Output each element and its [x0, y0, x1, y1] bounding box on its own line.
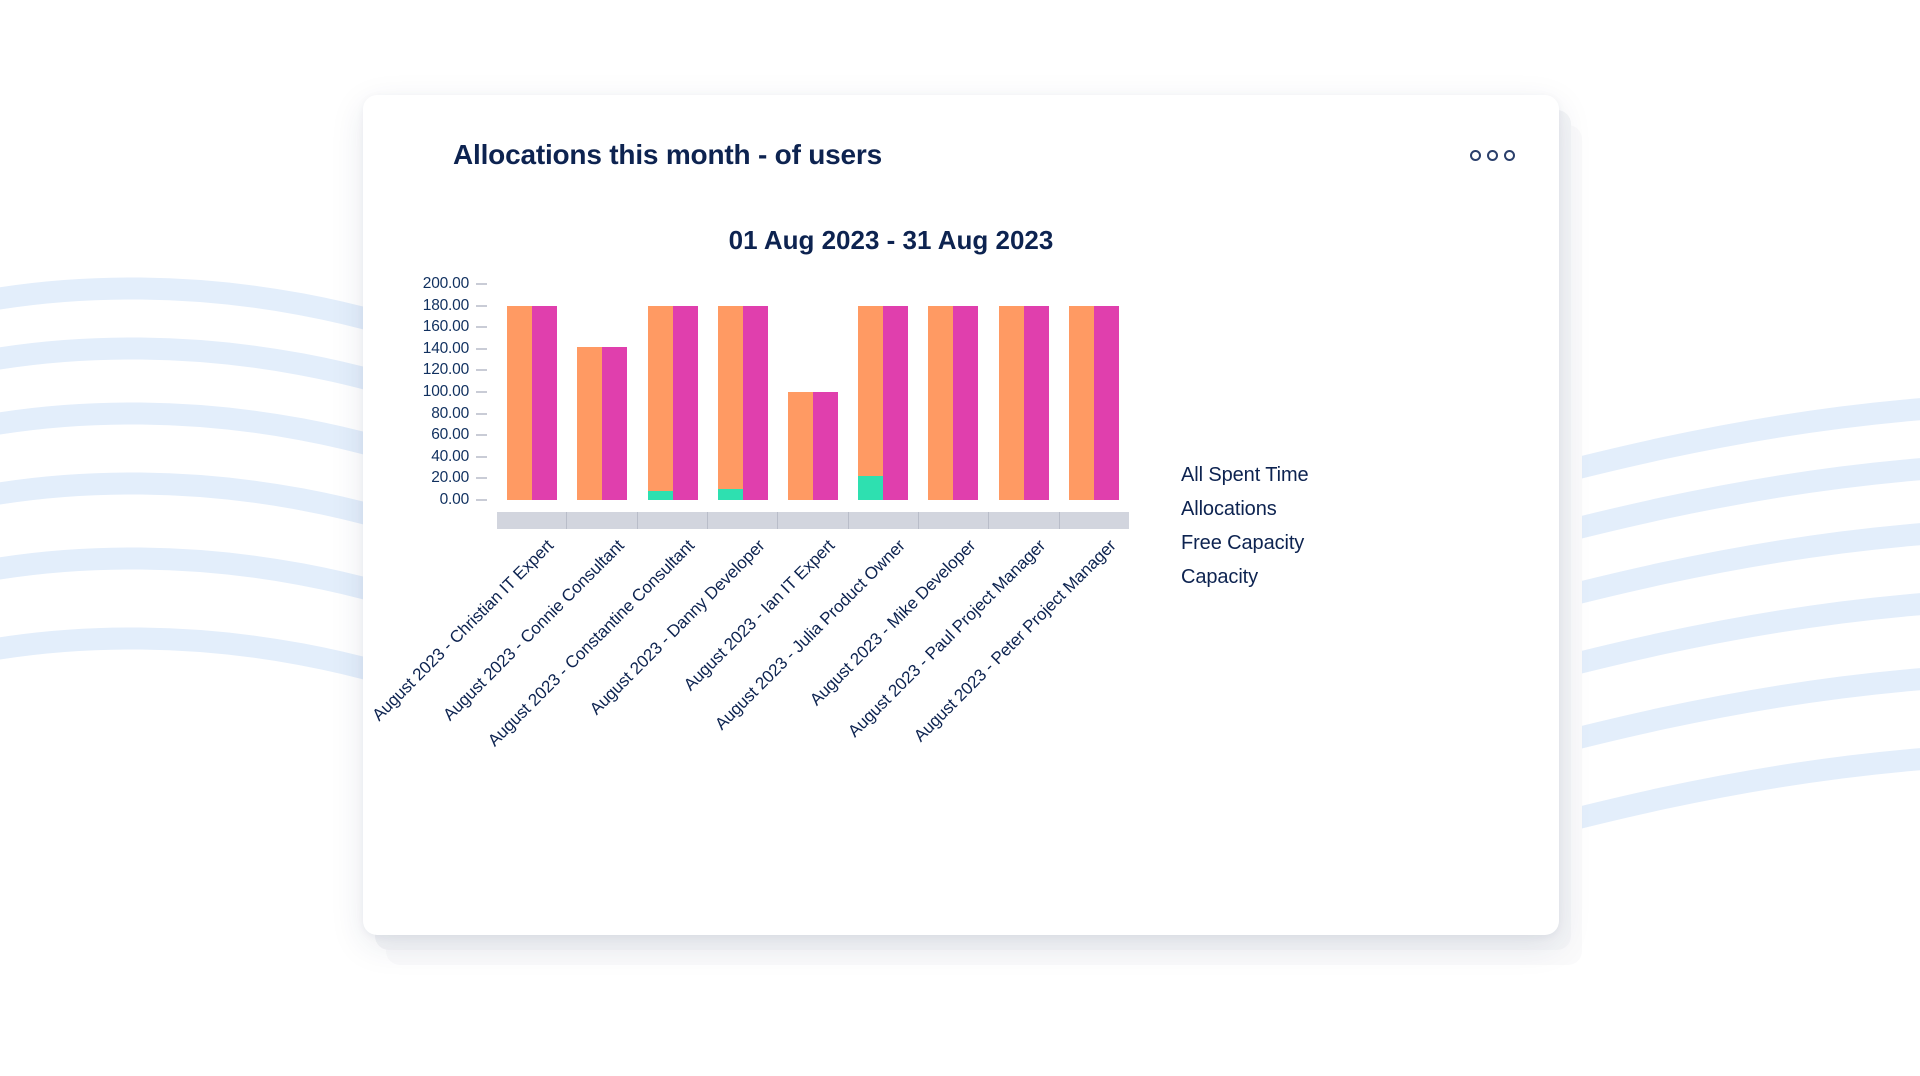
- y-axis-tick-label: 200.00: [423, 275, 469, 293]
- category-band-cell: [989, 512, 1059, 529]
- bar-capacity[interactable]: [953, 306, 978, 500]
- y-axis: 200.00180.00160.00140.00120.00100.0080.0…: [391, 284, 487, 500]
- y-axis-tick: 200.00: [423, 275, 487, 293]
- bar-segment-free-capacity: [648, 306, 673, 492]
- category-band-cell: [919, 512, 989, 529]
- y-axis-tick-label: 60.00: [431, 426, 469, 444]
- y-axis-tick-label: 120.00: [423, 361, 469, 379]
- bar-group[interactable]: [567, 284, 637, 500]
- category-band-cell: [567, 512, 637, 529]
- bar-free-capacity[interactable]: [999, 306, 1024, 500]
- bar-groups: [497, 284, 1129, 500]
- y-axis-tick: 40.00: [431, 448, 487, 466]
- bar-capacity[interactable]: [673, 306, 698, 500]
- y-axis-tick-label: 160.00: [423, 318, 469, 336]
- bar-free-capacity[interactable]: [648, 306, 673, 500]
- bar-segment-capacity: [532, 306, 557, 500]
- bar-free-capacity[interactable]: [788, 392, 813, 500]
- bar-segment-free-capacity: [1069, 306, 1094, 500]
- y-axis-tick: 140.00: [423, 340, 487, 358]
- y-axis-tick-mark: [476, 499, 487, 501]
- bar-capacity[interactable]: [602, 347, 627, 500]
- bar-free-capacity[interactable]: [718, 306, 743, 500]
- bar-segment-free-capacity: [577, 347, 602, 500]
- y-axis-tick-label: 140.00: [423, 340, 469, 358]
- bar-segment-free-capacity: [858, 306, 883, 477]
- chart-card: Allocations this month - of users 01 Aug…: [363, 95, 1559, 935]
- bar-segment-spent-time: [648, 491, 673, 500]
- y-axis-tick-label: 40.00: [431, 448, 469, 466]
- bar-free-capacity[interactable]: [928, 306, 953, 500]
- y-axis-tick-mark: [476, 369, 487, 371]
- bar-segment-free-capacity: [928, 306, 953, 500]
- legend-item-allocations[interactable]: Allocations: [1181, 498, 1309, 521]
- bar-capacity[interactable]: [532, 306, 557, 500]
- y-axis-tick-mark: [476, 413, 487, 415]
- bar-group[interactable]: [497, 284, 567, 500]
- page-root: Allocations this month - of users 01 Aug…: [0, 0, 1920, 1076]
- bar-segment-free-capacity: [788, 392, 813, 500]
- chart-subtitle: 01 Aug 2023 - 31 Aug 2023: [223, 215, 1559, 256]
- legend-item-capacity[interactable]: Capacity: [1181, 566, 1309, 589]
- y-axis-tick: 60.00: [431, 426, 487, 444]
- y-axis-tick-mark: [476, 477, 487, 479]
- y-axis-tick-mark: [476, 305, 487, 307]
- bar-free-capacity[interactable]: [858, 306, 883, 500]
- y-axis-tick-label: 0.00: [440, 491, 469, 509]
- bar-segment-free-capacity: [718, 306, 743, 490]
- bar-segment-capacity: [743, 306, 768, 500]
- y-axis-tick: 120.00: [423, 361, 487, 379]
- y-axis-tick-label: 20.00: [431, 469, 469, 487]
- page-title: Allocations this month - of users: [453, 139, 882, 171]
- bar-segment-capacity: [883, 306, 908, 500]
- y-axis-tick: 100.00: [423, 383, 487, 401]
- category-band: [497, 512, 1129, 529]
- y-axis-tick: 180.00: [423, 297, 487, 315]
- y-axis-tick-label: 100.00: [423, 383, 469, 401]
- bar-segment-capacity: [813, 392, 838, 500]
- y-axis-tick: 0.00: [440, 491, 487, 509]
- bar-capacity[interactable]: [1094, 306, 1119, 500]
- bar-capacity[interactable]: [1024, 306, 1049, 500]
- kebab-menu-icon[interactable]: [1466, 144, 1519, 167]
- plot-wrapper: 200.00180.00160.00140.00120.00100.0080.0…: [391, 284, 1531, 884]
- bar-segment-spent-time: [858, 476, 883, 500]
- bar-free-capacity[interactable]: [1069, 306, 1094, 500]
- bar-group[interactable]: [637, 284, 707, 500]
- y-axis-tick-mark: [476, 391, 487, 393]
- y-axis-tick-mark: [476, 434, 487, 436]
- kebab-dot-1: [1470, 150, 1481, 161]
- y-axis-tick-label: 180.00: [423, 297, 469, 315]
- y-axis-tick: 160.00: [423, 318, 487, 336]
- bar-free-capacity[interactable]: [577, 347, 602, 500]
- bar-capacity[interactable]: [743, 306, 768, 500]
- bar-segment-spent-time: [718, 489, 743, 500]
- x-axis-labels: August 2023 - Christian IT ExpertAugust …: [497, 536, 1129, 836]
- bar-group[interactable]: [918, 284, 988, 500]
- y-axis-tick-mark: [476, 456, 487, 458]
- kebab-dot-3: [1504, 150, 1515, 161]
- bar-segment-free-capacity: [507, 306, 532, 500]
- bar-segment-free-capacity: [999, 306, 1024, 500]
- category-band-cell: [638, 512, 708, 529]
- category-band-cell: [778, 512, 848, 529]
- y-axis-tick-mark: [476, 283, 487, 285]
- y-axis-tick-mark: [476, 326, 487, 328]
- bar-segment-capacity: [1094, 306, 1119, 500]
- bar-group[interactable]: [848, 284, 918, 500]
- bar-segment-capacity: [953, 306, 978, 500]
- y-axis-tick-mark: [476, 348, 487, 350]
- legend-item-all-spent-time[interactable]: All Spent Time: [1181, 464, 1309, 487]
- kebab-dot-2: [1487, 150, 1498, 161]
- legend-item-free-capacity[interactable]: Free Capacity: [1181, 532, 1309, 555]
- bar-segment-capacity: [673, 306, 698, 500]
- bar-group[interactable]: [989, 284, 1059, 500]
- bar-segment-capacity: [1024, 306, 1049, 500]
- card-header: Allocations this month - of users: [363, 95, 1559, 215]
- bar-free-capacity[interactable]: [507, 306, 532, 500]
- category-band-cell: [849, 512, 919, 529]
- bar-capacity[interactable]: [813, 392, 838, 500]
- category-band-cell: [497, 512, 567, 529]
- bar-capacity[interactable]: [883, 306, 908, 500]
- y-axis-tick: 20.00: [431, 469, 487, 487]
- bar-group[interactable]: [708, 284, 778, 500]
- chart-legend: All Spent TimeAllocationsFree CapacityCa…: [1181, 464, 1309, 589]
- bar-group[interactable]: [778, 284, 848, 500]
- category-band-cell: [708, 512, 778, 529]
- category-band-cell: [1060, 512, 1129, 529]
- bar-group[interactable]: [1059, 284, 1129, 500]
- plot-body: [497, 284, 1129, 500]
- bar-segment-capacity: [602, 347, 627, 500]
- y-axis-tick-label: 80.00: [431, 405, 469, 423]
- y-axis-tick: 80.00: [431, 405, 487, 423]
- chart-area: 01 Aug 2023 - 31 Aug 2023 200.00180.0016…: [363, 215, 1559, 935]
